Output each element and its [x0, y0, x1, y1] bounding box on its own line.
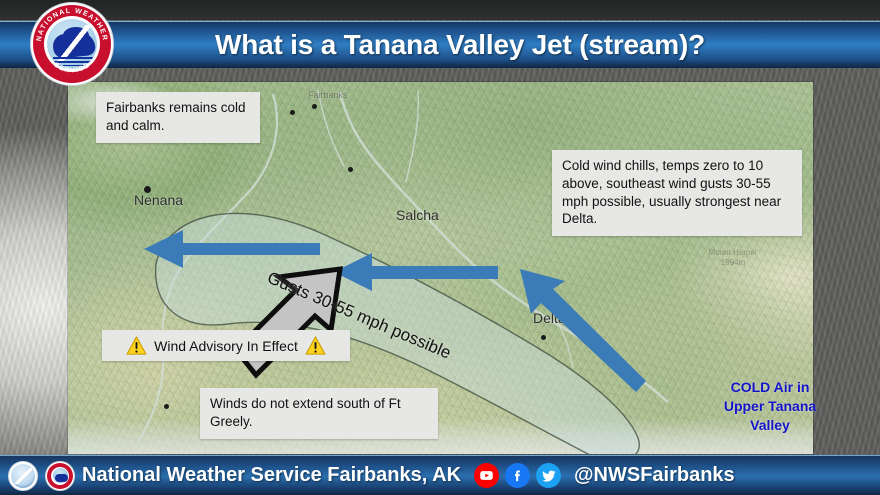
noaa-seagull-shape — [15, 468, 32, 484]
city-dot-unnamed-2 — [164, 404, 169, 409]
city-dot-unnamed-1 — [348, 167, 353, 172]
city-label-delta: Delta — [533, 310, 566, 326]
city-label-fairbanks: Fairbanks — [308, 90, 348, 100]
page-title: What is a Tanana Valley Jet (stream)? — [0, 29, 880, 61]
footer-social-handle: @NWSFairbanks — [574, 464, 735, 487]
city-dot-delta — [541, 335, 546, 340]
nws-logo-core — [53, 468, 68, 483]
peak-elevation: 1994m — [721, 258, 745, 267]
noaa-logo-icon — [8, 461, 38, 491]
svg-text:SERVICE: SERVICE — [53, 62, 92, 75]
twitter-icon[interactable] — [536, 463, 561, 488]
cold-air-label: COLD Air in Upper Tanana Valley — [700, 378, 840, 435]
seal-ring-text: NATIONAL WEATHER SERVICE — [31, 3, 113, 85]
facebook-icon[interactable] — [505, 463, 530, 488]
city-label-salcha: Salcha — [396, 207, 439, 223]
peak-name: Mount Harper — [709, 248, 758, 257]
slide-root: What is a Tanana Valley Jet (stream)? NA… — [0, 0, 880, 495]
youtube-icon[interactable] — [474, 463, 499, 488]
svg-text:NATIONAL WEATHER: NATIONAL WEATHER — [36, 8, 108, 42]
footer-bar: National Weather Service Fairbanks, AK @… — [0, 455, 880, 495]
nws-seal-logo: NATIONAL WEATHER SERVICE — [30, 2, 114, 86]
twitter-bird-glyph — [541, 468, 557, 484]
warning-triangle-icon-right — [305, 336, 326, 355]
river-tributary-1 — [318, 90, 344, 166]
title-bar: What is a Tanana Valley Jet (stream)? — [0, 21, 880, 68]
social-icon-group — [474, 463, 561, 488]
callout-fairbanks: Fairbanks remains cold and calm. — [96, 92, 260, 143]
river-chena — [406, 90, 418, 182]
youtube-glyph — [479, 468, 494, 483]
cold-air-line-3: Valley — [750, 417, 790, 433]
footer-agency-name: National Weather Service Fairbanks, AK — [82, 464, 461, 487]
nws-logo-icon — [45, 461, 75, 491]
callout-ft-greely: Winds do not extend south of Ft Greely. — [200, 388, 438, 439]
city-dot-fairbanks — [312, 104, 317, 109]
cold-air-line-1: COLD Air in — [731, 379, 810, 395]
warning-triangle-icon-left — [126, 336, 147, 355]
callout-cold-wind: Cold wind chills, temps zero to 10 above… — [552, 150, 802, 236]
wind-advisory-label: Wind Advisory In Effect — [154, 338, 298, 354]
cold-air-line-2: Upper Tanana — [724, 398, 816, 414]
facebook-glyph — [510, 468, 525, 483]
city-dot-north-pole — [290, 110, 295, 115]
peak-label-mount-harper: Mount Harper 1994m — [688, 248, 778, 268]
nws-logo-cloud — [55, 474, 68, 482]
background-top-band — [0, 0, 880, 20]
wind-advisory-banner: Wind Advisory In Effect — [102, 330, 350, 361]
city-label-nenana: Nenana — [134, 192, 183, 208]
